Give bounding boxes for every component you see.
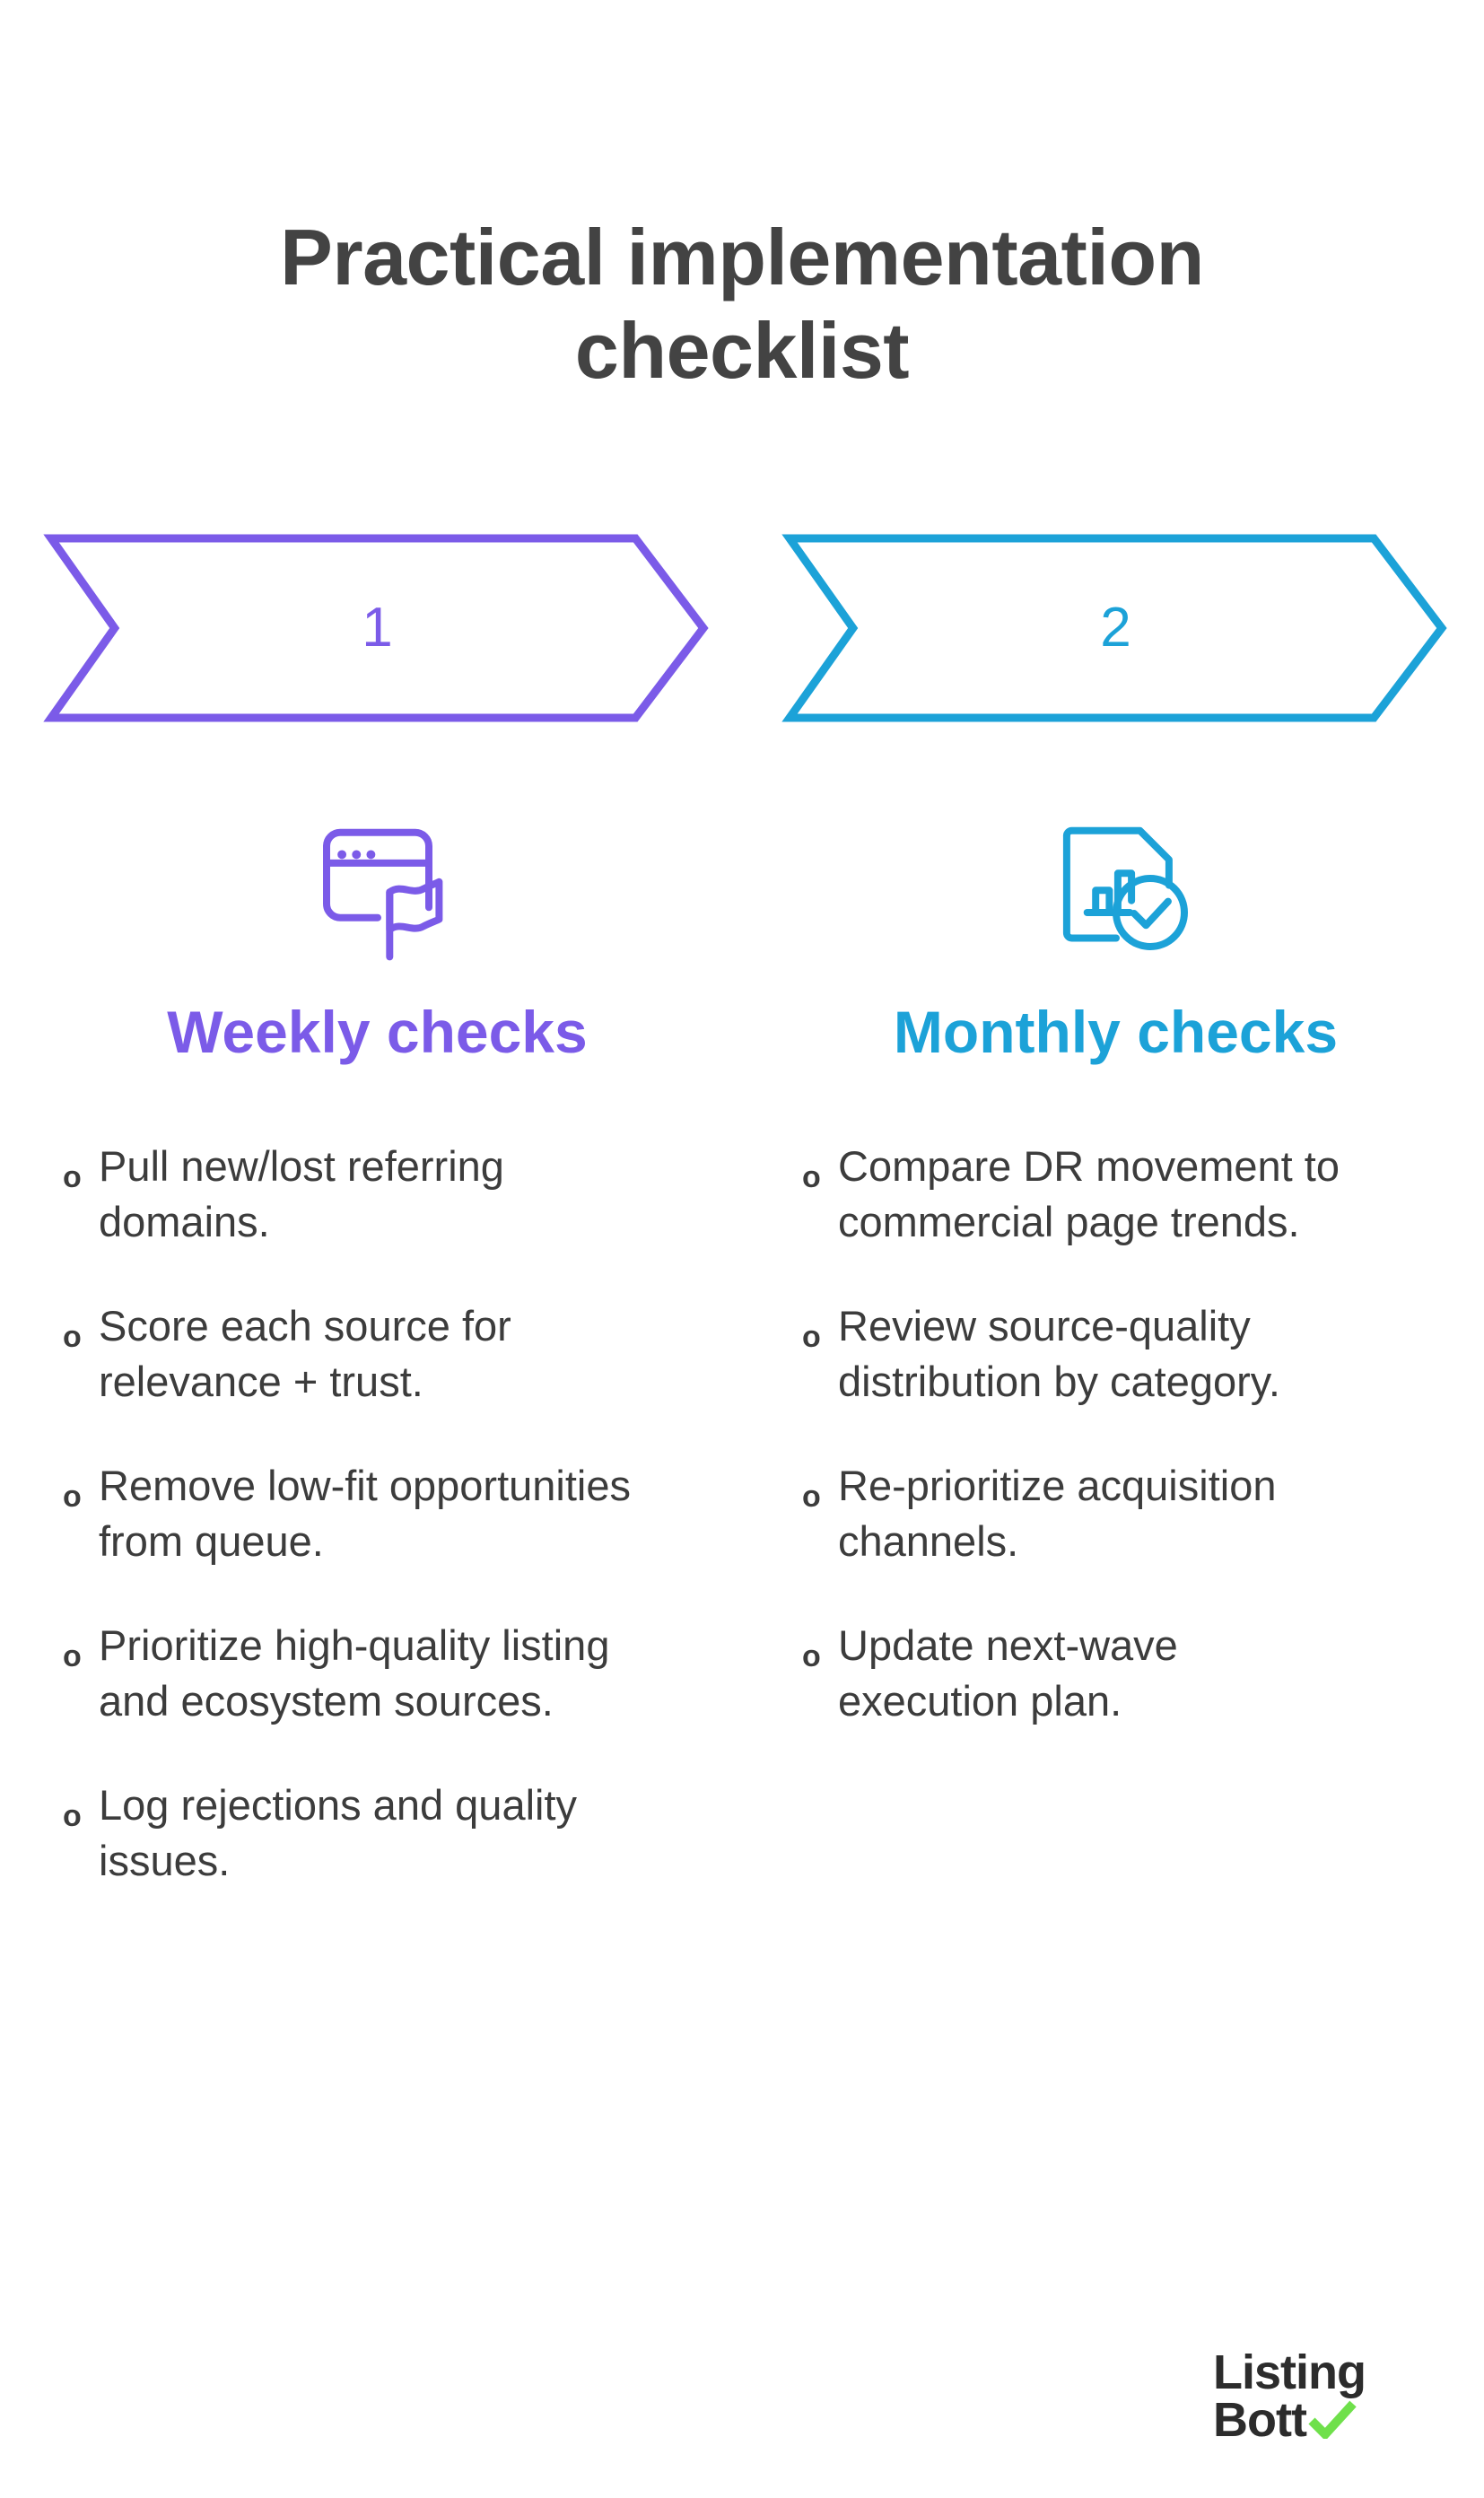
list-item: o Re-prioritize acquisition channels. (802, 1458, 1463, 1569)
logo-second-row: Bott (1213, 2397, 1357, 2444)
list-item-text: Score each source for relevance + trust. (99, 1298, 637, 1410)
checklist-columns: 1 (0, 533, 1484, 1889)
bullet-marker-icon: o (63, 1298, 99, 1352)
bullet-marker-icon: o (802, 1139, 838, 1192)
logo-text-bott: Bott (1213, 2397, 1306, 2444)
list-item: o Compare DR movement to commercial page… (802, 1139, 1463, 1250)
list-item-text: Re-prioritize acquisition channels. (838, 1458, 1358, 1569)
bullet-marker-icon: o (63, 1139, 99, 1192)
list-item-text: Log rejections and quality issues. (99, 1777, 637, 1889)
list-item: o Pull new/lost referring domains. (63, 1139, 724, 1250)
list-item: o Review source-quality distribution by … (802, 1298, 1463, 1410)
bullet-marker-icon: o (802, 1298, 838, 1352)
list-item-text: Compare DR movement to commercial page t… (838, 1139, 1358, 1250)
page-title: Practical implementation checklist (0, 211, 1484, 397)
list-item: o Remove low-fit opportunities from queu… (63, 1458, 724, 1569)
infographic-page: Practical implementation checklist 1 (0, 0, 1484, 2498)
column-heading-monthly: Monthly checks (894, 1000, 1338, 1065)
checklist-weekly: o Pull new/lost referring domains. o Sco… (31, 1139, 724, 1889)
step-number-2: 2 (785, 533, 1446, 723)
list-item: o Log rejections and quality issues. (63, 1777, 724, 1889)
column-weekly: 1 (0, 533, 742, 1889)
bullet-marker-icon: o (63, 1777, 99, 1831)
step-number-1: 1 (47, 533, 708, 723)
browser-window-flag-icon (292, 793, 463, 964)
step-banner-2: 2 (785, 533, 1446, 723)
list-item: o Prioritize high-quality listing and ec… (63, 1618, 724, 1729)
list-item-text: Update next-wave execution plan. (838, 1618, 1358, 1729)
green-check-icon (1308, 2399, 1357, 2442)
list-item: o Update next-wave execution plan. (802, 1618, 1463, 1729)
list-item-text: Review source-quality distribution by ca… (838, 1298, 1358, 1410)
list-item-text: Remove low-fit opportunities from queue. (99, 1458, 637, 1569)
bullet-marker-icon: o (63, 1458, 99, 1512)
checklist-monthly: o Compare DR movement to commercial page… (768, 1139, 1463, 1729)
logo-text-listing: Listing (1213, 2349, 1366, 2397)
step-banner-1: 1 (47, 533, 708, 723)
bullet-marker-icon: o (802, 1618, 838, 1672)
document-chart-check-icon (1031, 793, 1201, 964)
list-item-text: Pull new/lost referring domains. (99, 1139, 637, 1250)
bullet-marker-icon: o (63, 1618, 99, 1672)
brand-logo: Listing Bott (1213, 2349, 1366, 2444)
list-item: o Score each source for relevance + trus… (63, 1298, 724, 1410)
column-heading-weekly: Weekly checks (167, 1000, 587, 1065)
column-monthly: 2 Monthly checks (742, 533, 1484, 1729)
bullet-marker-icon: o (802, 1458, 838, 1512)
list-item-text: Prioritize high-quality listing and ecos… (99, 1618, 637, 1729)
